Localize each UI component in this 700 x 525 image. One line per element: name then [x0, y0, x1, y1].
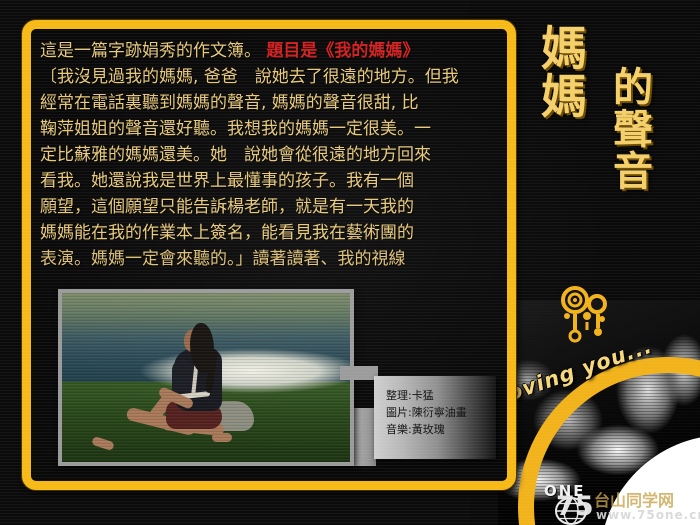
credit-item: 音樂:黃玫瑰: [386, 421, 467, 438]
credit-item: 圖片:陳衍寧油畫: [386, 404, 467, 421]
gray-tab-top: [340, 366, 378, 380]
essay-text-block: 這是一篇字跡娟秀的作文簿。 題目是《我的媽媽》 〔我沒見過我的媽媽, 爸爸 說她…: [40, 38, 500, 272]
credits-list: 整理:卡猛 圖片:陳衍寧油畫 音樂:黃玫瑰: [386, 387, 467, 438]
essay-line: 經常在電話裏聽到媽媽的聲音, 媽媽的聲音很甜, 比: [40, 90, 500, 116]
essay-line: 這是一篇字跡娟秀的作文簿。 題目是《我的媽媽》: [40, 38, 500, 64]
page-title-vertical-secondary: 的聲音: [600, 66, 658, 192]
painting-scene: [62, 293, 350, 462]
essay-line: 鞠萍姐姐的聲音還好聽。我想我的媽媽一定很美。一: [40, 116, 500, 142]
slide-canvas: Loving you... 媽媽 的聲音 這是一篇字跡娟秀的作文簿。 題目是《我…: [0, 0, 700, 525]
essay-line: 表演。媽媽一定會來聽的。」讀著讀著、我的視線: [40, 246, 500, 272]
essay-line: 看我。她還說我是世界上最懂事的孩子。我有一個: [40, 168, 500, 194]
essay-title-highlight: 題目是《我的媽媽》: [266, 41, 419, 61]
oil-painting-image: [58, 289, 354, 466]
globe-icon: [554, 496, 588, 525]
credits-panel: 整理:卡猛 圖片:陳衍寧油畫 音樂:黃玫瑰: [374, 376, 496, 459]
essay-line-text: 這是一篇字跡娟秀的作文簿。: [40, 41, 261, 61]
page-title-vertical-primary: 媽媽: [528, 24, 594, 120]
credit-item: 整理:卡猛: [386, 387, 467, 404]
watermark-url: www.75one.cn: [596, 508, 700, 522]
essay-line: 定比蘇雅的媽媽還美。她 說她會從很遠的地方回來: [40, 142, 500, 168]
essay-line: 媽媽能在我的作業本上簽名，能看見我在藝術團的: [40, 220, 500, 246]
essay-line: 〔我沒見過我的媽媽, 爸爸 說她去了很遠的地方。但我: [40, 64, 500, 90]
essay-line: 願望，這個願望只能告訴楊老師，就是有一天我的: [40, 194, 500, 220]
painting-grain-overlay: [62, 293, 350, 462]
circles-drip-ornament: [558, 286, 616, 353]
